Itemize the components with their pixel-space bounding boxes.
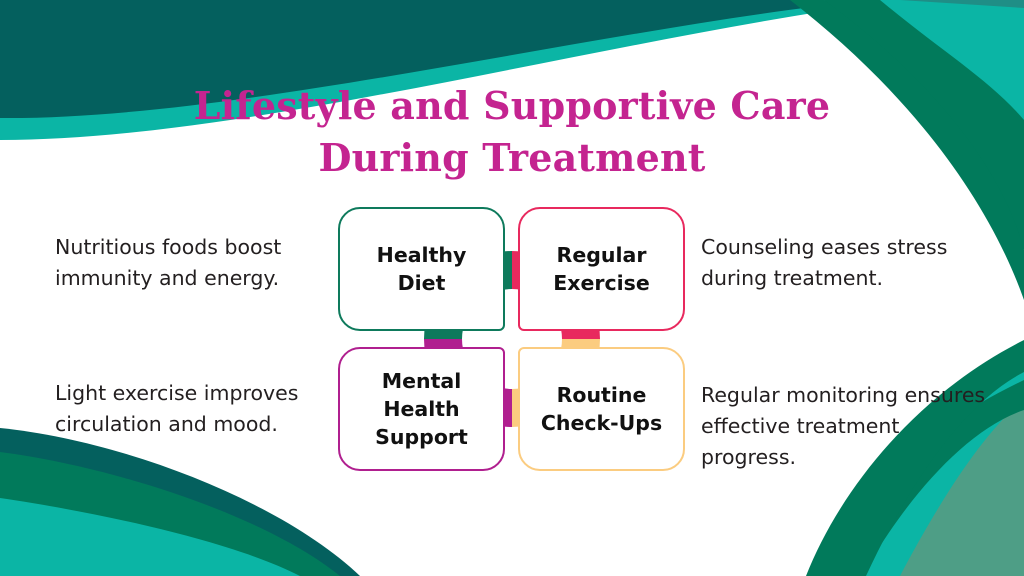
quadrant-box-regular-exercise[interactable]: Regular Exercise — [518, 207, 685, 331]
quadrant-box-healthy-diet[interactable]: Healthy Diet — [338, 207, 505, 331]
caption-regular-exercise: Counseling eases stress during treatment… — [701, 232, 991, 294]
deco-bottom-left-dark — [0, 428, 360, 576]
slide-canvas: Lifestyle and Supportive Care During Tre… — [0, 0, 1024, 576]
quadrant-label-routine-check-ups: Routine Check-Ups — [530, 381, 673, 438]
caption-routine-check-ups: Regular monitoring ensures effective tre… — [701, 380, 991, 473]
quadrant-label-regular-exercise: Regular Exercise — [530, 241, 673, 298]
deco-bottom-left-bright — [0, 498, 300, 576]
caption-mental-health-support: Light exercise improves circulation and … — [55, 378, 333, 440]
quadrant-box-mental-health-support[interactable]: Mental Health Support — [338, 347, 505, 471]
slide-title-line-1: Lifestyle and Supportive Care — [0, 80, 1024, 132]
quadrant-diagram: Healthy Diet Regular Exercise Mental Hea… — [333, 203, 691, 475]
slide-title: Lifestyle and Supportive Care During Tre… — [0, 80, 1024, 183]
quadrant-label-healthy-diet: Healthy Diet — [350, 241, 493, 298]
caption-healthy-diet: Nutritious foods boost immunity and ener… — [55, 232, 333, 294]
quadrant-label-mental-health-support: Mental Health Support — [350, 367, 493, 452]
slide-title-line-2: During Treatment — [0, 132, 1024, 184]
quadrant-box-routine-check-ups[interactable]: Routine Check-Ups — [518, 347, 685, 471]
deco-bottom-left-green — [0, 452, 340, 576]
